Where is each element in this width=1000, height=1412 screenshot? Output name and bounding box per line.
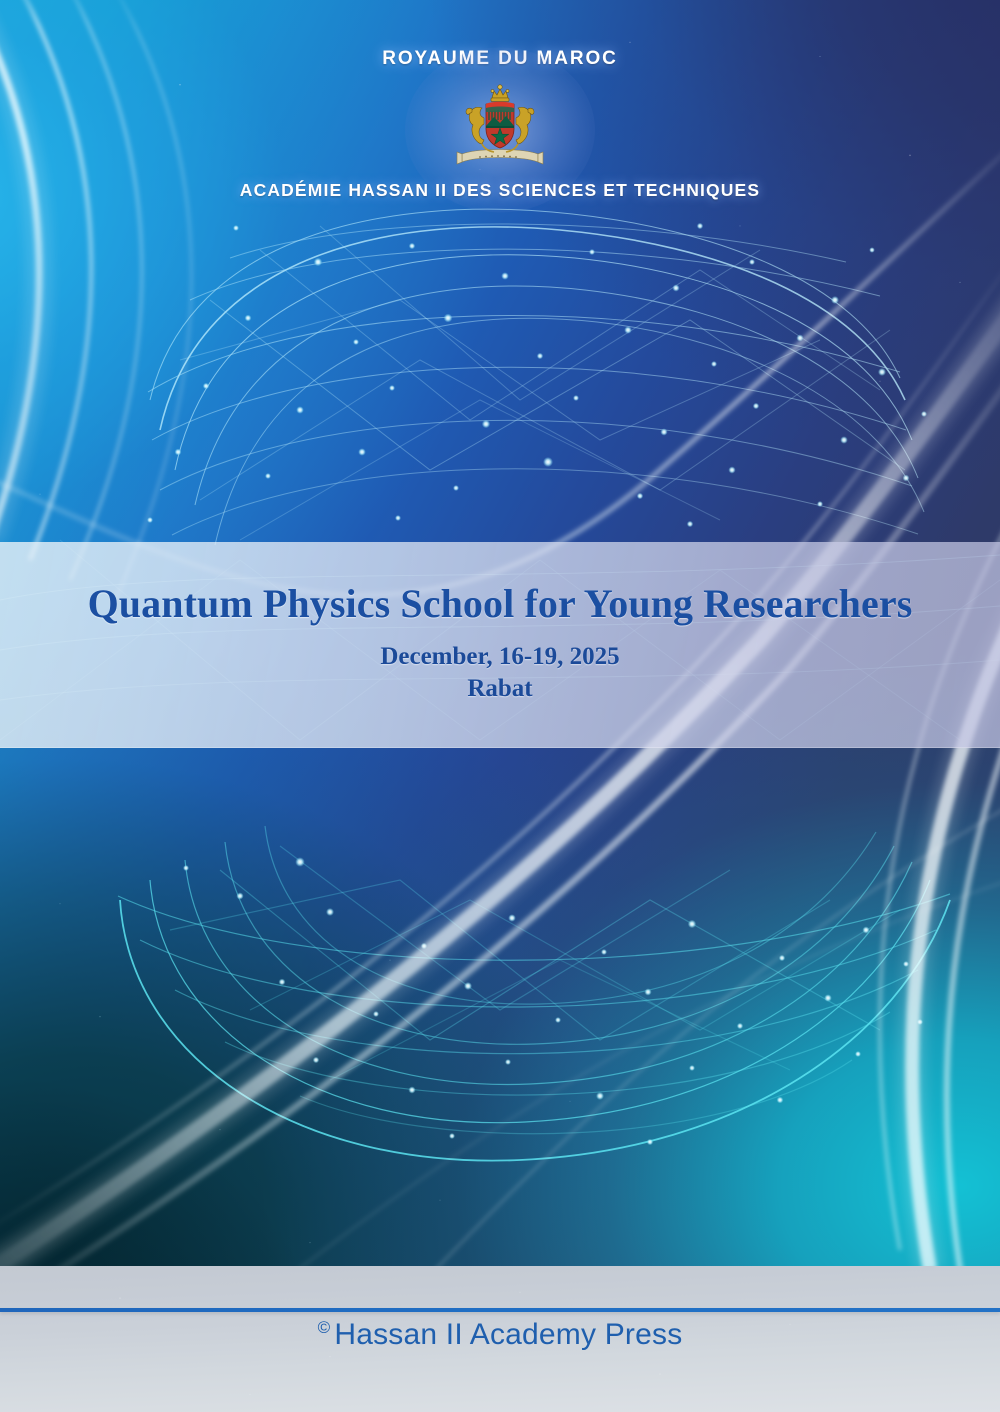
copyright-line: ©Hassan II Academy Press	[0, 1318, 1000, 1352]
title-block: Quantum Physics School for Young Researc…	[0, 542, 1000, 748]
academy-heading: ACADÉMIE HASSAN II DES SCIENCES ET TECHN…	[0, 180, 1000, 201]
copyright-icon: ©	[318, 1318, 331, 1337]
publisher-name: Hassan II Academy Press	[334, 1318, 682, 1351]
page-title: Quantum Physics School for Young Researc…	[88, 580, 913, 627]
event-date: December, 16-19, 2025	[380, 643, 619, 671]
footer-divider	[0, 1308, 1000, 1312]
event-location: Rabat	[467, 675, 532, 703]
moroccan-coat-of-arms-icon	[448, 82, 552, 178]
book-cover-page: ROYAUME DU MAROC	[0, 0, 1000, 1412]
